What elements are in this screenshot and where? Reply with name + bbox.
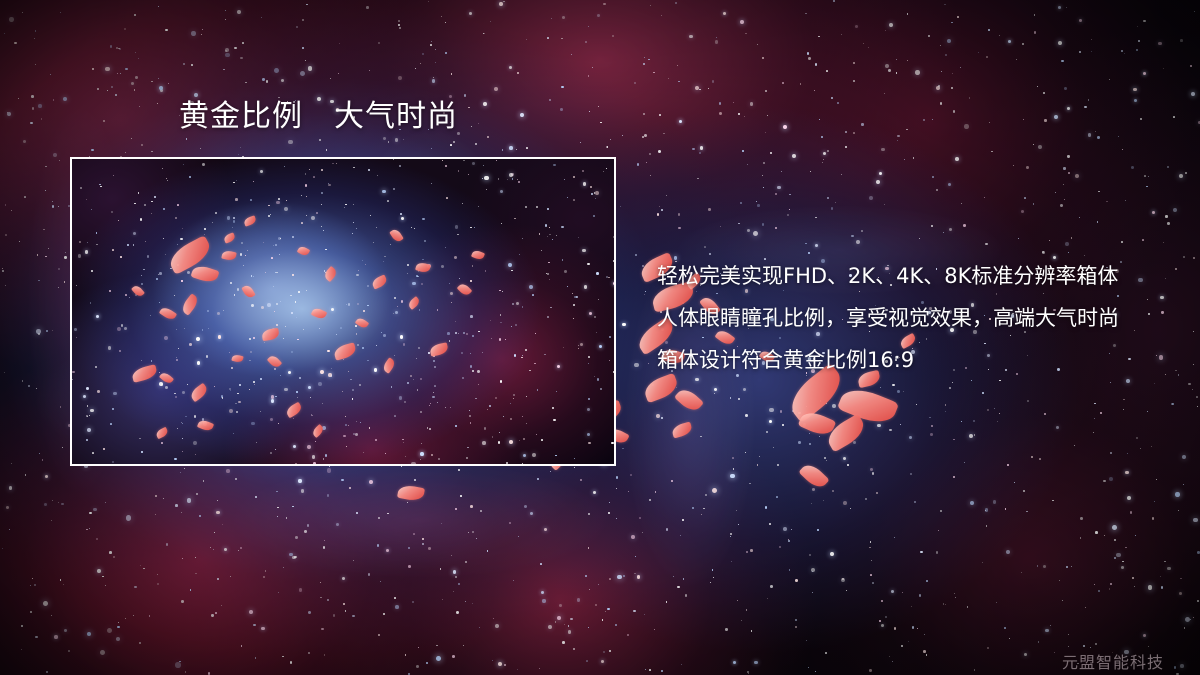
body-line-1: 轻松完美实现FHD、2K、4K、8K标准分辨率箱体 [657, 255, 1177, 297]
picture-frame[interactable] [70, 157, 616, 466]
picture-frame-image [72, 159, 614, 464]
page-title: 黄金比例 大气时尚 [179, 102, 458, 132]
frame-petals [72, 159, 614, 464]
slide-canvas: 黄金比例 大气时尚 轻松完美实现FHD、2K、4K、8K标准分辨率箱体 人体眼睛… [0, 0, 1200, 675]
body-line-3: 箱体设计符合黄金比例16:9 [657, 339, 1177, 381]
frame-starfield [72, 159, 614, 464]
frame-nebula [72, 159, 614, 464]
body-copy: 轻松完美实现FHD、2K、4K、8K标准分辨率箱体 人体眼睛瞳孔比例，享受视觉效… [657, 255, 1177, 381]
body-line-2: 人体眼睛瞳孔比例，享受视觉效果，高端大气时尚 [657, 297, 1177, 339]
watermark: 元盟智能科技 [1062, 649, 1164, 673]
